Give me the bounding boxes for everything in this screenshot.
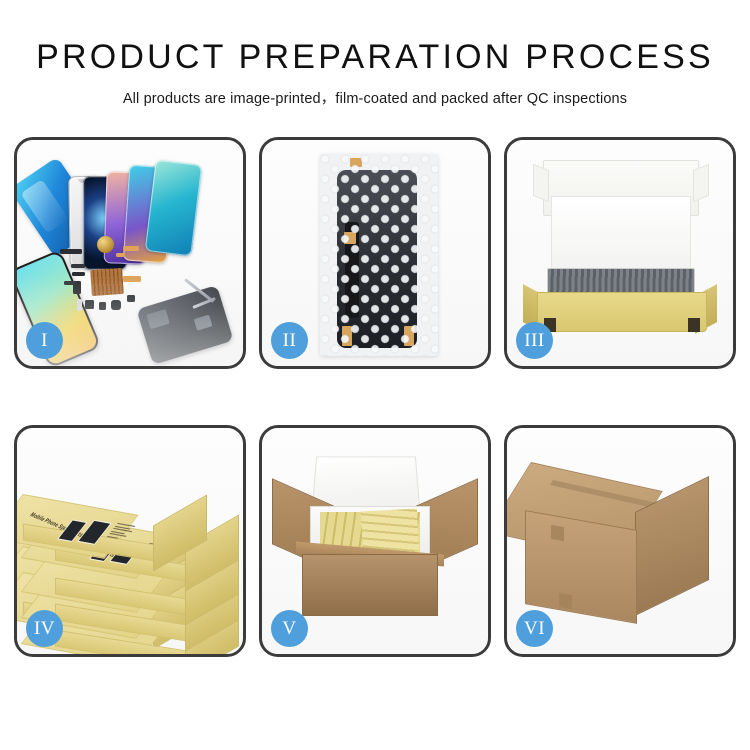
step-panel-3: III bbox=[504, 137, 736, 369]
packed-boxes-icon bbox=[361, 509, 419, 554]
foam-sheet-icon bbox=[551, 196, 691, 274]
step-badge-4: IV bbox=[26, 610, 63, 647]
carton-side-front bbox=[525, 510, 637, 624]
step-badge-2: II bbox=[271, 322, 308, 359]
carton-body bbox=[302, 554, 438, 616]
box-stack-icon: Mobile Phone Spare Parts bbox=[25, 452, 235, 637]
step-panel-5: V bbox=[259, 425, 491, 657]
step-panel-2: II bbox=[259, 137, 491, 369]
step-badge-5: V bbox=[271, 610, 308, 647]
tape-icon bbox=[559, 593, 572, 609]
foam-lid-icon bbox=[312, 456, 421, 509]
step-badge-6: VI bbox=[516, 610, 553, 647]
step-panel-1: I bbox=[14, 137, 246, 369]
tape-icon bbox=[551, 525, 564, 541]
step-panel-6: VI bbox=[504, 425, 736, 657]
page-title: PRODUCT PREPARATION PROCESS bbox=[36, 40, 714, 76]
bubble-wrap-bag-icon bbox=[320, 154, 438, 356]
product-preparation-infographic: PRODUCT PREPARATION PROCESS All products… bbox=[0, 0, 750, 750]
box-tab-icon bbox=[688, 318, 700, 332]
process-steps-grid: I II bbox=[14, 137, 736, 689]
step-badge-1: I bbox=[26, 322, 63, 359]
page-subtitle: All products are image-printed，film-coat… bbox=[123, 87, 627, 108]
step-badge-3: III bbox=[516, 322, 553, 359]
kraft-box-front bbox=[537, 292, 707, 332]
header: PRODUCT PREPARATION PROCESS All products… bbox=[0, 0, 750, 125]
step-panel-4: Mobile Phone Spare Parts bbox=[14, 425, 246, 657]
bubble-texture bbox=[320, 154, 438, 356]
